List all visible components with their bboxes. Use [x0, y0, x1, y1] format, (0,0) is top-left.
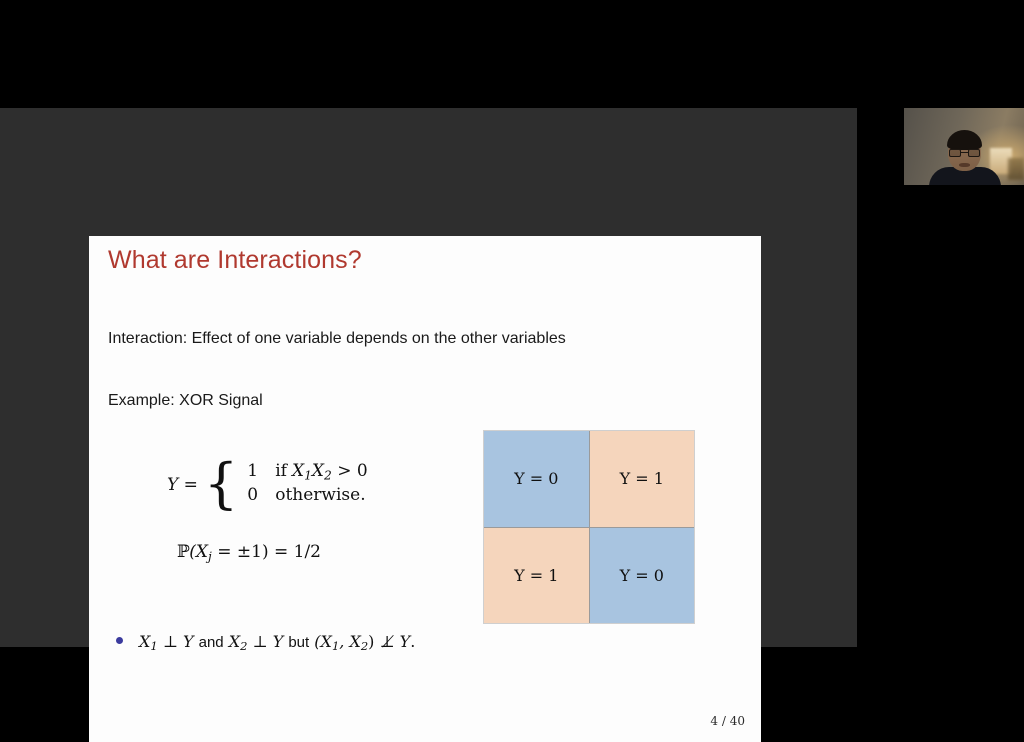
video-person-mouth [959, 163, 970, 167]
video-object-right [1008, 158, 1024, 180]
page-title: What are Interactions? [108, 246, 362, 275]
left-brace-glyph: { [204, 462, 238, 506]
xor-cell-bottom-left: Y = 1 [484, 528, 589, 624]
bullet-dot-icon [116, 637, 123, 644]
variable-pair-open: (X [314, 632, 332, 651]
equation-cases: 1 if X1X2 > 0 0 otherwise. [247, 461, 367, 509]
participant-video-tile[interactable] [904, 108, 1024, 185]
probability-equation: ℙ(Xj = ±1) = 1/2 [177, 542, 321, 563]
xor-signal-grid: Y = 0 Y = 1 Y = 1 Y = 0 [483, 430, 695, 624]
example-label-text: Example: XOR Signal [108, 392, 263, 410]
case-condition-prefix: if [275, 461, 287, 481]
case-value: 0 [247, 485, 275, 505]
glasses-lens-left [949, 149, 961, 157]
equation-lhs: Y = [167, 475, 198, 495]
pair-close: ) [368, 632, 374, 651]
slide-page-number: 4 / 40 [710, 714, 745, 728]
interaction-definition-text: Interaction: Effect of one variable depe… [108, 330, 566, 348]
subscript-1: 1 [150, 639, 157, 653]
variable-y3: Y [400, 632, 411, 651]
meeting-stage: What are Interactions? Interaction: Effe… [0, 0, 1024, 647]
variable-x1: X [139, 632, 150, 651]
subscript-2: 2 [240, 639, 247, 653]
perp-symbol-2: ⊥ [253, 632, 268, 651]
independence-statement: X1 ⊥ Y and X2 ⊥ Y but (X1, X2) ⊥̸ Y. [139, 632, 415, 653]
piecewise-equation: Y = { 1 if X1X2 > 0 0 otherwise. [167, 461, 368, 509]
variable-y1: Y [183, 632, 194, 651]
pair-comma: , X [339, 632, 361, 651]
case-condition: X1X2 > 0 [292, 461, 368, 482]
case-condition: otherwise. [275, 485, 365, 505]
presentation-slide: What are Interactions? Interaction: Effe… [89, 236, 761, 742]
list-item: X1 ⊥ Y and X2 ⊥ Y but (X1, X2) ⊥̸ Y. [116, 632, 415, 653]
xor-cell-bottom-right: Y = 0 [590, 528, 695, 624]
video-person-glasses [949, 149, 980, 157]
xor-cell-top-left: Y = 0 [484, 431, 589, 527]
glasses-lens-right [968, 149, 980, 157]
glasses-bridge [961, 152, 968, 153]
screen-share-region: What are Interactions? Interaction: Effe… [0, 108, 857, 647]
variable-x2: X [229, 632, 240, 651]
xor-cell-top-right: Y = 1 [590, 431, 695, 527]
period: . [410, 632, 415, 651]
perp-symbol-1: ⊥ [163, 632, 178, 651]
conjunction-but: but [288, 634, 309, 651]
blackboard-p-symbol: ℙ [177, 542, 189, 562]
case-row: 1 if X1X2 > 0 [247, 461, 367, 485]
conjunction-and: and [199, 634, 224, 651]
case-value: 1 [247, 461, 275, 481]
case-row: 0 otherwise. [247, 485, 367, 509]
probability-argument: (Xj = ±1) = 1/2 [189, 542, 321, 562]
variable-y2: Y [273, 632, 284, 651]
not-perp-symbol: ⊥̸ [380, 632, 395, 651]
